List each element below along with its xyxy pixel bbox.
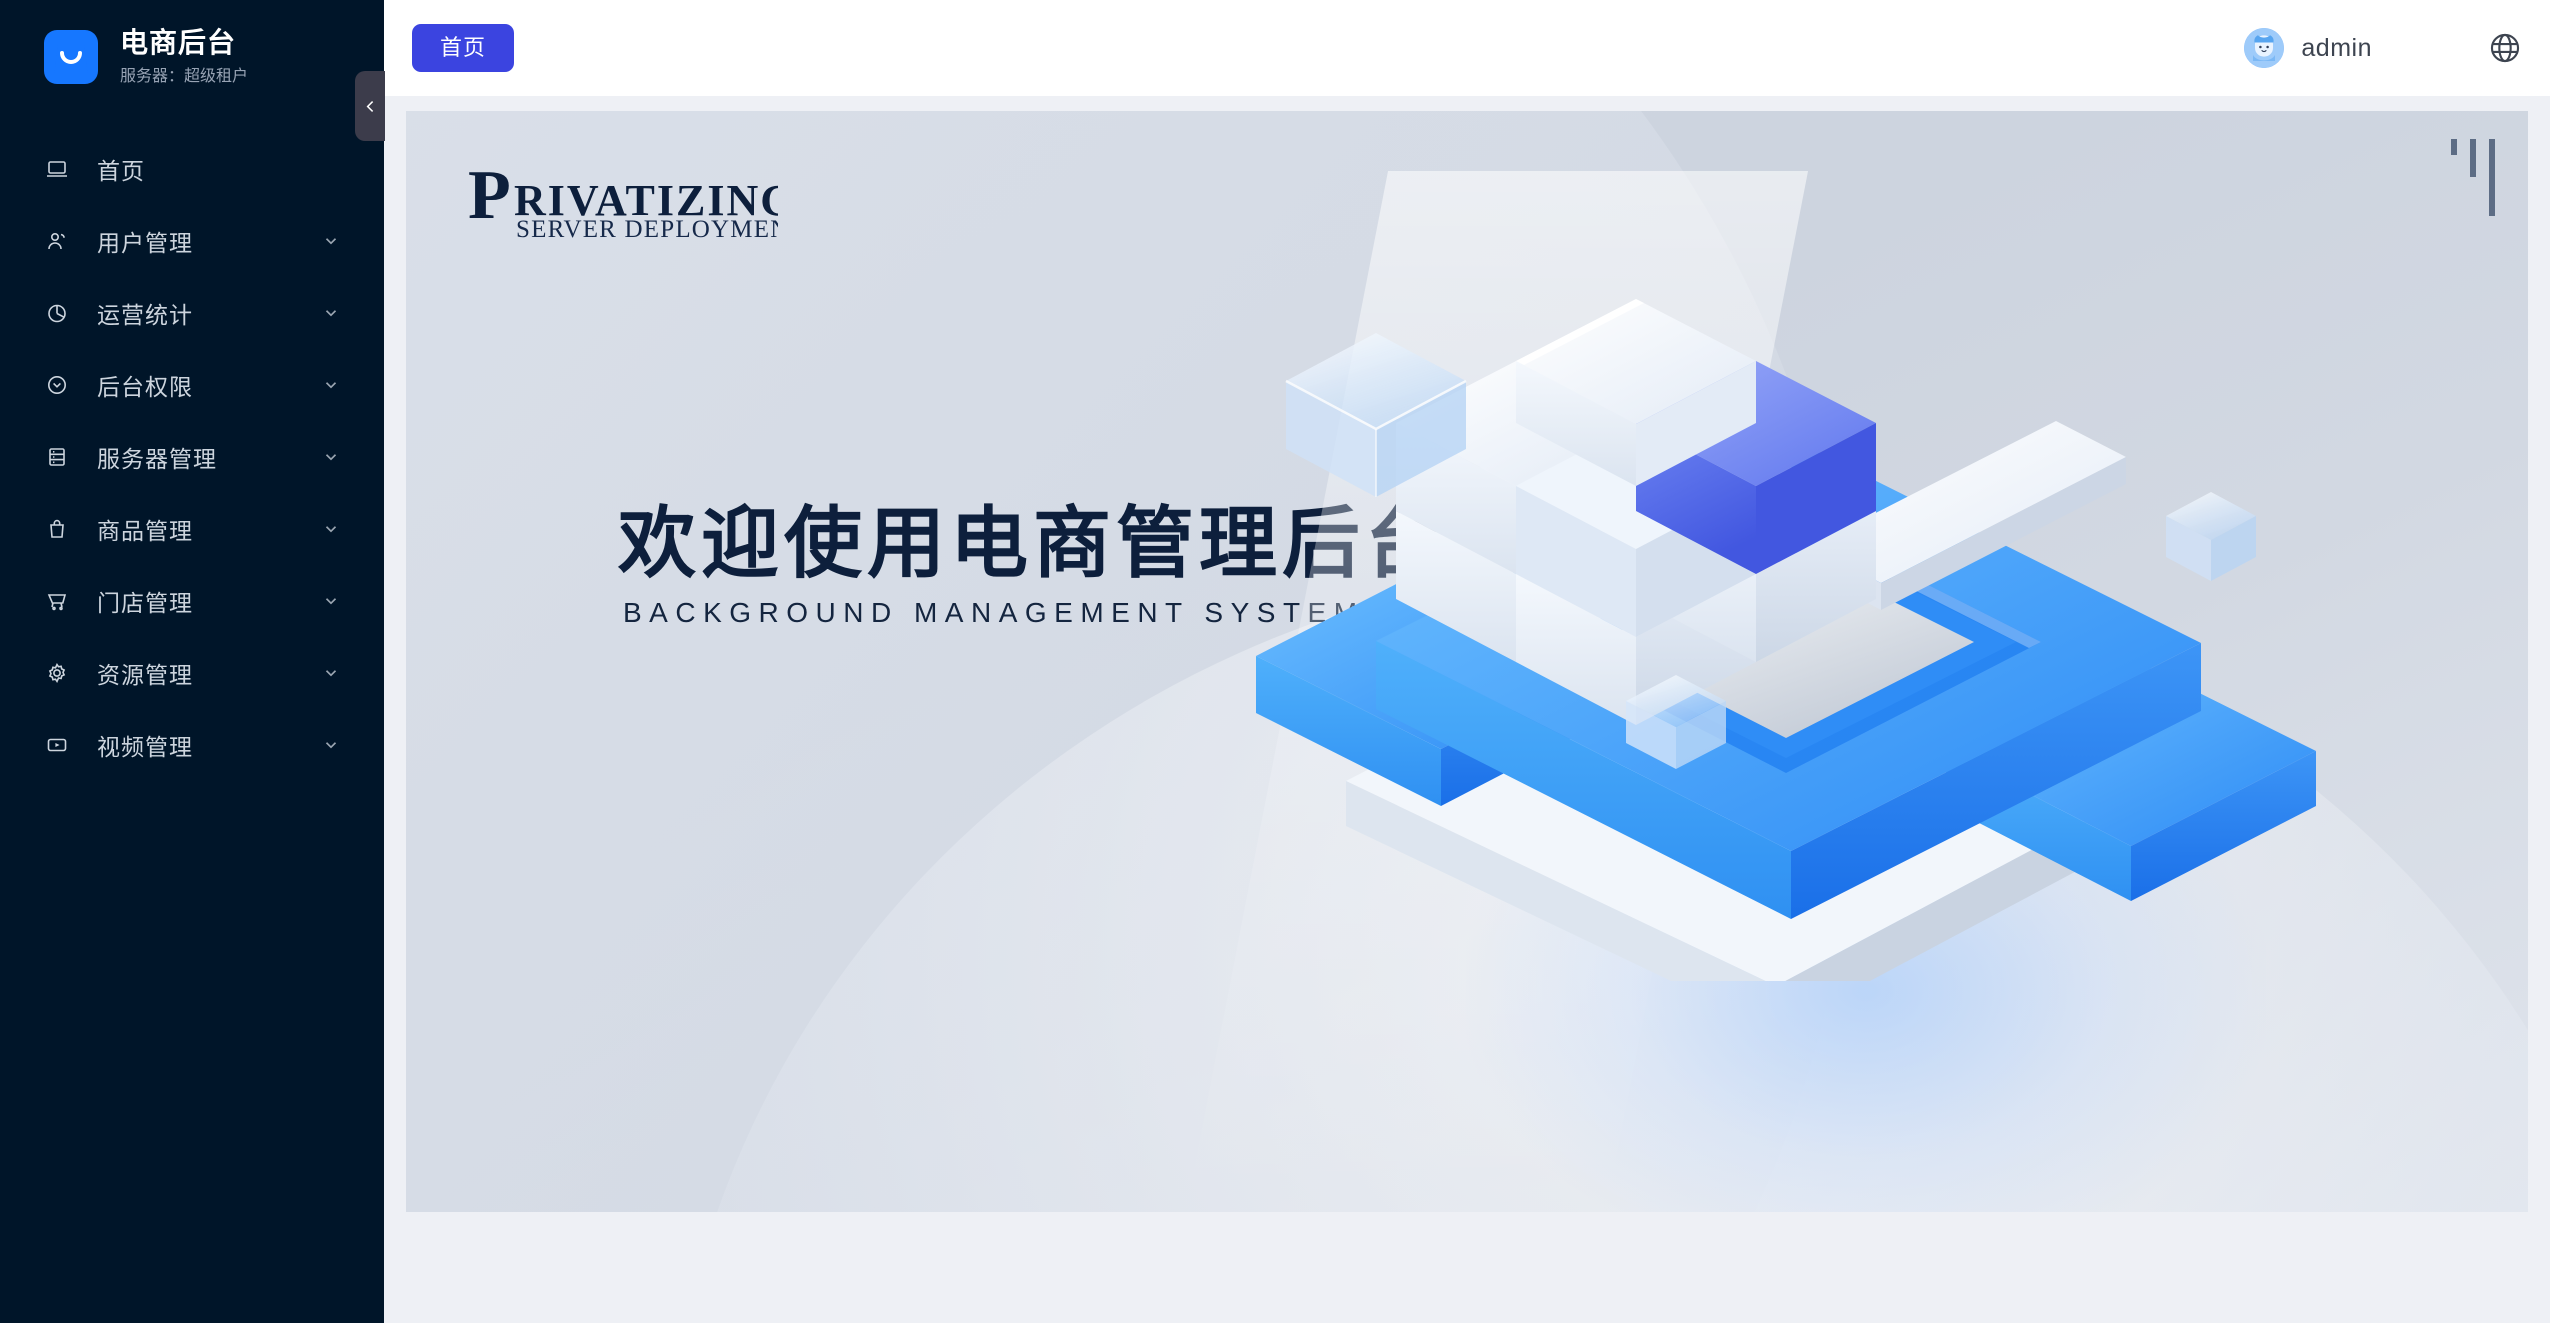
- welcome-banner: P RIVATIZING SERVER DEPLOYMENT 欢迎使用电商管理后…: [406, 111, 2528, 1212]
- bar-medium: [2470, 139, 2476, 177]
- app-root: 电商后台 服务器：超级租户 首页 用户管理: [0, 0, 2550, 1323]
- bar-short: [2451, 139, 2457, 155]
- privatizing-logo-subtitle: SERVER DEPLOYMENT: [516, 216, 778, 244]
- sidebar-item-user-management[interactable]: 用户管理: [0, 205, 384, 277]
- chevron-down-icon[interactable]: [322, 376, 340, 394]
- isometric-cubes-illustration: [1226, 261, 2356, 981]
- privatizing-logo-initial: P: [468, 165, 511, 227]
- video-icon: [44, 732, 70, 758]
- chevron-down-icon[interactable]: [322, 520, 340, 538]
- sidebar-item-label: 运营统计: [97, 296, 193, 330]
- sidebar-item-backend-permissions[interactable]: 后台权限: [0, 349, 384, 421]
- circle-down-icon: [44, 372, 70, 398]
- bar-long: [2489, 139, 2495, 216]
- chevron-down-icon[interactable]: [322, 304, 340, 322]
- sidebar-item-label: 视频管理: [97, 728, 193, 762]
- sidebar-item-label: 后台权限: [97, 368, 193, 402]
- sidebar-menu: 首页 用户管理 运营统计: [0, 133, 384, 781]
- chevron-down-icon[interactable]: [322, 232, 340, 250]
- main-area: 首页 admin: [384, 0, 2550, 1323]
- sidebar: 电商后台 服务器：超级租户 首页 用户管理: [0, 0, 384, 1323]
- sidebar-item-label: 门店管理: [97, 584, 193, 618]
- tab-home[interactable]: 首页: [412, 24, 514, 72]
- chevron-down-icon[interactable]: [322, 664, 340, 682]
- avatar[interactable]: [2244, 28, 2284, 68]
- sidebar-item-label: 商品管理: [97, 512, 193, 546]
- brand-text: 电商后台 服务器：超级租户: [120, 26, 248, 87]
- sidebar-item-label: 服务器管理: [97, 440, 217, 474]
- cart-icon: [44, 588, 70, 614]
- topbar-right: admin: [2244, 28, 2522, 68]
- shopping-bag-icon: [44, 516, 70, 542]
- shopping-bag-icon: [44, 30, 98, 84]
- content-area: P RIVATIZING SERVER DEPLOYMENT 欢迎使用电商管理后…: [384, 96, 2550, 1323]
- three-bars-decoration: [2451, 139, 2495, 216]
- server-icon: [44, 444, 70, 470]
- privatizing-logo: P RIVATIZING SERVER DEPLOYMENT: [468, 161, 778, 245]
- user-avatar-icon: [2244, 28, 2284, 68]
- sidebar-item-label: 用户管理: [97, 224, 193, 258]
- isometric-cubes-svg: [1226, 261, 2356, 981]
- username-label: admin: [2301, 34, 2372, 63]
- chevron-left-icon: [362, 98, 379, 115]
- sidebar-item-home[interactable]: 首页: [0, 133, 384, 205]
- gear-icon: [44, 660, 70, 686]
- sidebar-collapse-button[interactable]: [355, 71, 385, 141]
- glass-cube-small-right: [2166, 492, 2256, 581]
- brand-subtitle: 服务器：超级租户: [120, 67, 248, 87]
- chevron-down-icon[interactable]: [322, 592, 340, 610]
- brand-title: 电商后台: [120, 26, 248, 60]
- sidebar-item-product-management[interactable]: 商品管理: [0, 493, 384, 565]
- topbar: 首页 admin: [384, 0, 2550, 96]
- users-icon: [44, 228, 70, 254]
- chevron-down-icon[interactable]: [322, 448, 340, 466]
- chevron-down-icon[interactable]: [322, 736, 340, 754]
- sidebar-item-server-management[interactable]: 服务器管理: [0, 421, 384, 493]
- brand[interactable]: 电商后台 服务器：超级租户: [0, 0, 384, 87]
- laptop-icon: [44, 156, 70, 182]
- sidebar-item-store-management[interactable]: 门店管理: [0, 565, 384, 637]
- sidebar-item-label: 首页: [97, 152, 145, 186]
- shopping-bag-glyph: [44, 30, 98, 84]
- globe-icon[interactable]: [2488, 31, 2522, 65]
- sidebar-item-resource-management[interactable]: 资源管理: [0, 637, 384, 709]
- pie-chart-icon: [44, 300, 70, 326]
- sidebar-item-label: 资源管理: [97, 656, 193, 690]
- sidebar-item-video-management[interactable]: 视频管理: [0, 709, 384, 781]
- sidebar-item-operations-statistics[interactable]: 运营统计: [0, 277, 384, 349]
